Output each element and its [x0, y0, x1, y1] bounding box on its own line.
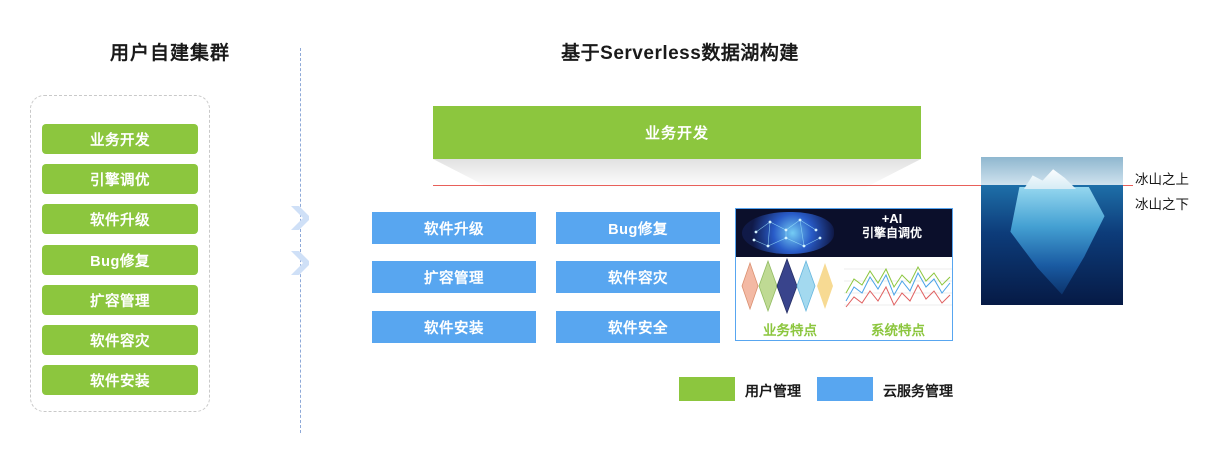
- left-item-6[interactable]: 软件安装: [42, 365, 198, 395]
- service-item-label: 软件升级: [424, 218, 484, 239]
- left-item-label: 业务开发: [90, 129, 150, 150]
- service-item-label: 扩容管理: [424, 267, 484, 288]
- legend-label-cloud-service-management: 云服务管理: [883, 381, 953, 401]
- diagram-canvas: 用户自建集群 业务开发 引擎调优 软件升级 Bug修复 扩容管理 软件容灾 软件…: [0, 0, 1215, 470]
- ai-panel-footer: 业务特点 系统特点: [736, 315, 952, 341]
- left-item-2[interactable]: 软件升级: [42, 204, 198, 234]
- left-panel-title: 用户自建集群: [30, 38, 310, 65]
- diamond-chart-icon: [736, 257, 844, 315]
- left-item-0[interactable]: 业务开发: [42, 124, 198, 154]
- left-item-1[interactable]: 引擎调优: [42, 164, 198, 194]
- service-item-capacity-management[interactable]: 扩容管理: [372, 261, 536, 293]
- line-chart-icon: [844, 257, 953, 315]
- service-item-label: 软件容灾: [608, 267, 668, 288]
- service-item-label: 软件安全: [608, 317, 668, 338]
- iceberg-above-label: 冰山之上: [1135, 168, 1189, 188]
- ai-panel-charts: [736, 257, 952, 315]
- left-item-label: 软件容灾: [90, 330, 150, 351]
- left-item-5[interactable]: 软件容灾: [42, 325, 198, 355]
- legend-swatch-cloud-service-management: [817, 377, 873, 401]
- ai-panel-header: +AI 引擎自调优: [736, 209, 952, 257]
- system-feature-chart: [844, 257, 953, 315]
- service-item-software-upgrade[interactable]: 软件升级: [372, 212, 536, 244]
- service-item-bug-fix[interactable]: Bug修复: [556, 212, 720, 244]
- business-development-bar[interactable]: 业务开发: [433, 106, 921, 159]
- left-item-label: 软件升级: [90, 209, 150, 230]
- ai-tuning-panel[interactable]: +AI 引擎自调优: [735, 208, 953, 341]
- chevron-right-icon: [289, 250, 309, 276]
- business-development-label: 业务开发: [645, 122, 709, 143]
- iceberg-below-label: 冰山之下: [1135, 193, 1189, 213]
- service-item-software-install[interactable]: 软件安装: [372, 311, 536, 343]
- iceberg-image: [981, 157, 1123, 305]
- ai-title-line2: 引擎自调优: [840, 226, 944, 241]
- left-item-label: 扩容管理: [90, 290, 150, 311]
- left-item-label: 引擎调优: [90, 169, 150, 190]
- left-item-3[interactable]: Bug修复: [42, 245, 198, 275]
- ai-panel-title: +AI 引擎自调优: [840, 211, 944, 241]
- left-item-label: 软件安装: [90, 370, 150, 391]
- service-item-label: 软件安装: [424, 317, 484, 338]
- transition-arrows: [285, 205, 321, 285]
- left-item-label: Bug修复: [90, 250, 150, 271]
- business-feature-chart: [736, 257, 844, 315]
- legend-swatch-user-management: [679, 377, 735, 401]
- ai-footer-left-label: 业务特点: [736, 315, 844, 341]
- chevron-right-icon: [289, 205, 309, 231]
- right-panel-title: 基于Serverless数据湖构建: [420, 38, 940, 65]
- left-item-4[interactable]: 扩容管理: [42, 285, 198, 315]
- service-item-software-security[interactable]: 软件安全: [556, 311, 720, 343]
- ai-title-line1: +AI: [840, 211, 944, 226]
- service-item-label: Bug修复: [608, 218, 668, 239]
- ai-footer-right-label: 系统特点: [844, 315, 952, 341]
- legend-label-user-management: 用户管理: [745, 381, 801, 401]
- brain-network-icon: [742, 212, 834, 254]
- service-item-disaster-recovery[interactable]: 软件容灾: [556, 261, 720, 293]
